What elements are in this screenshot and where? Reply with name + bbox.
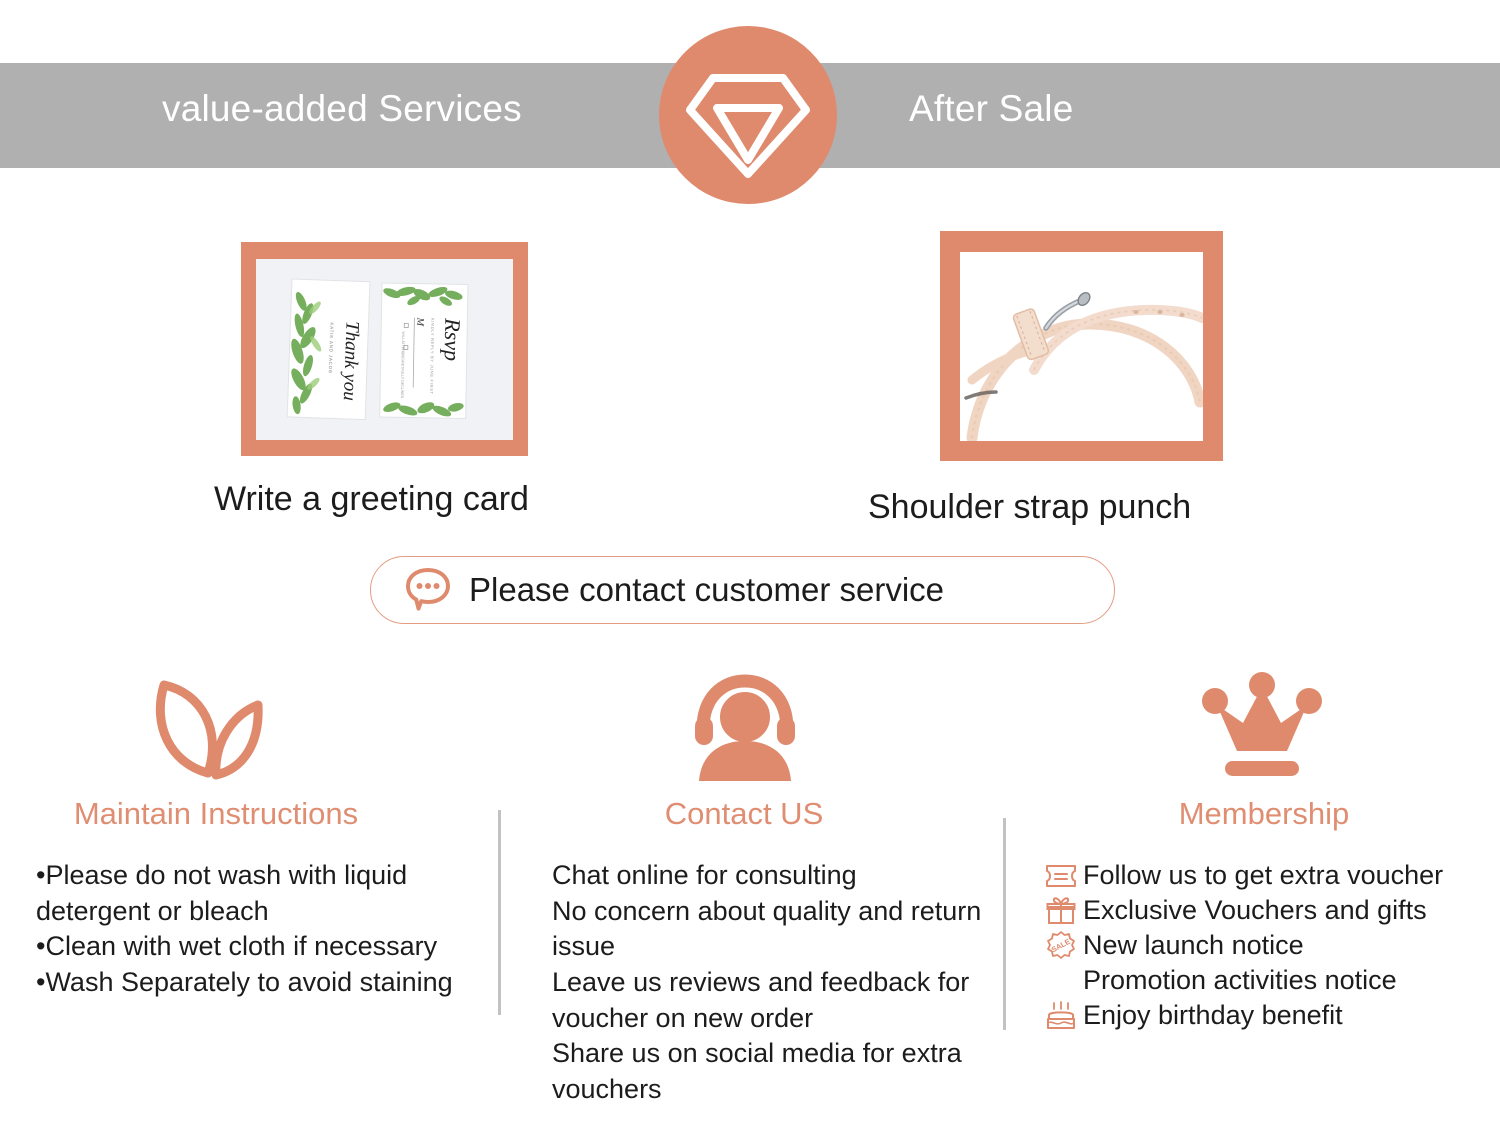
svg-text:REGRETFULLY DECLINES: REGRETFULLY DECLINES xyxy=(400,353,405,398)
list-item: Enjoy birthday benefit xyxy=(1039,998,1500,1033)
contact-customer-service-label: Please contact customer service xyxy=(469,571,944,609)
chat-bubble-icon xyxy=(403,563,453,618)
list-item: •Wash Separately to avoid staining xyxy=(36,965,486,1001)
gift-box-icon xyxy=(1039,894,1083,928)
diamond-gem-logo-icon xyxy=(659,26,837,204)
contact-us-list: Chat online for consulting No concern ab… xyxy=(552,858,1002,1107)
column-divider-left xyxy=(498,810,501,1015)
greeting-card-photo-frame: Thank you KATIE AND JACOB xyxy=(241,242,528,456)
column-heading-maintain-instructions: Maintain Instructions xyxy=(0,796,480,832)
crown-icon xyxy=(1033,668,1491,786)
list-item: Follow us to get extra voucher xyxy=(1039,858,1500,893)
shoulder-strap-caption: Shoulder strap punch xyxy=(868,488,1191,527)
membership-benefit-label: Promotion activities notice xyxy=(1083,963,1397,999)
list-item: Exclusive Vouchers and gifts xyxy=(1039,893,1500,928)
membership-benefit-label: Follow us to get extra voucher xyxy=(1083,858,1443,894)
two-leaves-icon xyxy=(0,668,480,786)
list-item: •Please do not wash with liquid detergen… xyxy=(36,858,486,929)
brand-logo-badge xyxy=(659,26,837,204)
svg-text:Rsvp: Rsvp xyxy=(440,317,466,361)
column-divider-right xyxy=(1003,818,1006,1030)
shoulder-strap-photo xyxy=(960,252,1203,441)
svg-text:WILL ATTEND: WILL ATTEND xyxy=(401,331,405,355)
header-title-left: value-added Services xyxy=(162,88,522,130)
svg-text:Thank you: Thank you xyxy=(339,321,363,401)
list-item: Chat online for consulting xyxy=(552,858,1002,894)
column-maintain-instructions: Maintain Instructions •Please do not was… xyxy=(10,668,480,1001)
contact-customer-service-button[interactable]: Please contact customer service xyxy=(370,556,1115,624)
info-columns: Maintain Instructions •Please do not was… xyxy=(0,668,1500,1128)
column-heading-contact-us: Contact US xyxy=(502,796,986,832)
svg-text:SALE: SALE xyxy=(1050,936,1072,953)
membership-benefit-label: Enjoy birthday benefit xyxy=(1083,998,1343,1034)
svg-text:M: M xyxy=(414,317,425,327)
column-membership: Membership Follow us to get extra vouche… xyxy=(1021,668,1491,1033)
headset-agent-icon xyxy=(504,668,986,786)
list-item: SALE New launch notice xyxy=(1039,928,1500,963)
list-item: Leave us reviews and feedback for vouche… xyxy=(552,965,1002,1036)
greeting-card-photo: Thank you KATIE AND JACOB xyxy=(256,259,513,440)
birthday-cake-icon xyxy=(1039,999,1083,1033)
membership-benefit-label: New launch notice xyxy=(1083,928,1304,964)
list-item: No concern about quality and return issu… xyxy=(552,894,1002,965)
membership-list: Follow us to get extra voucher Exclusive… xyxy=(1039,858,1500,1033)
header-title-right: After Sale xyxy=(909,88,1073,130)
ticket-voucher-icon xyxy=(1039,859,1083,893)
greeting-card-caption: Write a greeting card xyxy=(214,480,529,519)
list-item: Share us on social media for extra vouch… xyxy=(552,1036,1002,1107)
membership-benefit-label: Exclusive Vouchers and gifts xyxy=(1083,893,1427,929)
list-item: •Clean with wet cloth if necessary xyxy=(36,929,486,965)
shoulder-strap-photo-frame xyxy=(940,231,1223,461)
column-contact-us: Contact US Chat online for consulting No… xyxy=(516,668,986,1107)
sale-badge-icon: SALE xyxy=(1039,929,1083,963)
maintain-instructions-list: •Please do not wash with liquid detergen… xyxy=(36,858,486,1001)
page-root: value-added Services After Sale xyxy=(0,0,1500,1145)
column-heading-membership: Membership xyxy=(1037,796,1491,832)
list-item: Promotion activities notice xyxy=(1039,963,1500,998)
